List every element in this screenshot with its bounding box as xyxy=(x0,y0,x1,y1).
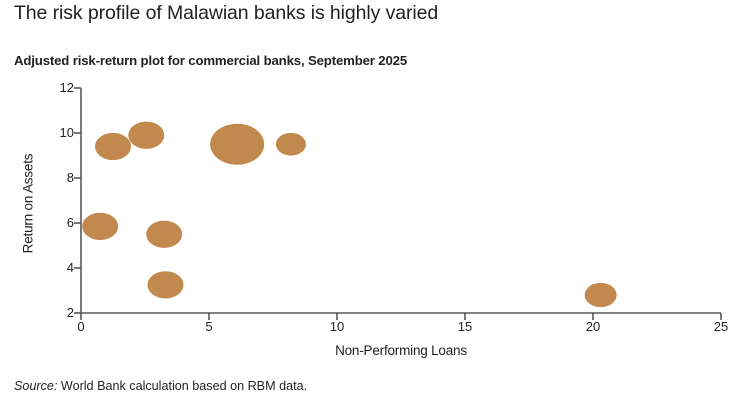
bubble-point xyxy=(210,124,264,165)
y-axis-tick-label: 6 xyxy=(48,215,74,230)
source-text: World Bank calculation based on RBM data… xyxy=(61,379,307,393)
x-axis-tick-label: 20 xyxy=(573,319,613,334)
bubble-point xyxy=(128,122,164,149)
bubble-point xyxy=(146,221,182,248)
y-axis-tick-label: 10 xyxy=(48,125,74,140)
x-axis-tick-label: 0 xyxy=(61,319,101,334)
source-label: Source: xyxy=(14,379,57,393)
y-axis-tick-label: 2 xyxy=(48,305,74,320)
bubble-point xyxy=(82,213,118,240)
chart-subtitle: Adjusted risk-return plot for commercial… xyxy=(14,53,634,68)
bubble-series xyxy=(82,122,616,308)
source-note: Source: World Bank calculation based on … xyxy=(14,379,307,393)
bubble-point xyxy=(95,133,131,160)
x-axis-tick-label: 25 xyxy=(701,319,741,334)
bubble-point xyxy=(585,283,617,307)
y-axis-tick-label: 8 xyxy=(48,170,74,185)
chart-page: The risk profile of Malawian banks is hi… xyxy=(0,0,748,410)
y-axis-tick-label: 12 xyxy=(48,80,74,95)
x-axis-title: Non-Performing Loans xyxy=(81,343,721,358)
bubble-point xyxy=(276,133,306,156)
scatter-plot-svg xyxy=(0,76,748,376)
plot-area: 24681012 0510152025 Return on Assets Non… xyxy=(0,76,748,376)
page-title: The risk profile of Malawian banks is hi… xyxy=(14,2,574,25)
y-axis-title: Return on Assets xyxy=(21,114,36,294)
y-axis-tick-label: 4 xyxy=(48,260,74,275)
x-axis-tick-label: 15 xyxy=(445,319,485,334)
bubble-point xyxy=(147,271,183,298)
x-axis-tick-label: 5 xyxy=(189,319,229,334)
x-axis-tick-label: 10 xyxy=(317,319,357,334)
